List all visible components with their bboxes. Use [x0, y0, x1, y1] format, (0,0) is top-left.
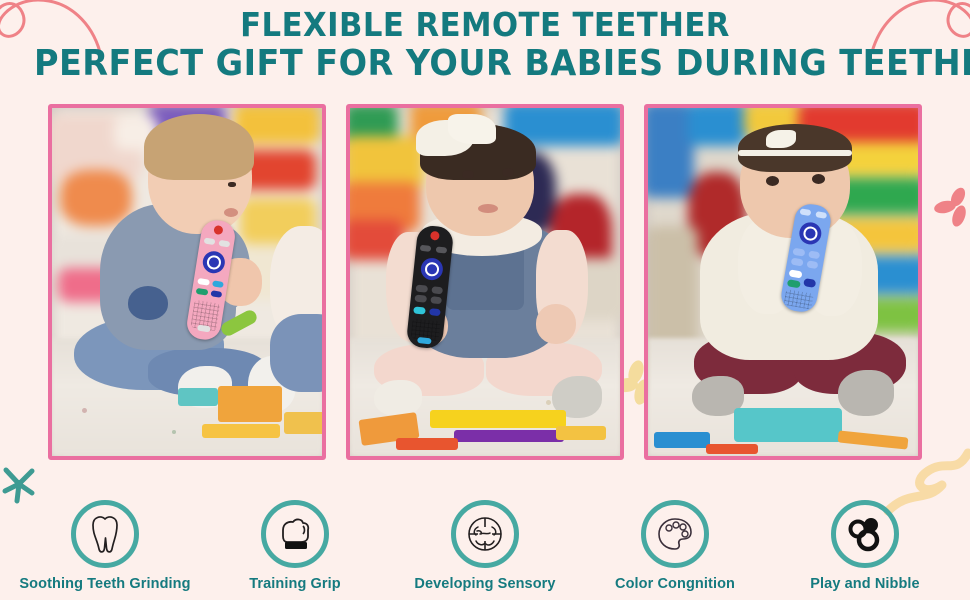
fist-grip-icon — [274, 514, 316, 554]
feature-row: Soothing Teeth Grinding Training Grip — [0, 500, 970, 592]
brain-icon — [464, 513, 506, 555]
photo-gallery — [0, 104, 970, 460]
feature-circle-5 — [831, 500, 899, 568]
feature-label-1: Soothing Teeth Grinding — [10, 576, 200, 592]
feature-item-soothing-teeth-grinding[interactable]: Soothing Teeth Grinding — [10, 500, 200, 592]
tooth-icon — [85, 513, 125, 555]
feature-circle-2 — [261, 500, 329, 568]
feature-label-4: Color Congnition — [580, 576, 770, 592]
feature-circle-1 — [71, 500, 139, 568]
feature-item-training-grip[interactable]: Training Grip — [200, 500, 390, 592]
headline-line-2: PERFECT GIFT FOR YOUR BABIES DURING TEET… — [34, 45, 936, 83]
feature-item-developing-sensory[interactable]: Developing Sensory — [390, 500, 580, 592]
photo-2-scene — [350, 108, 620, 456]
photo-card-3[interactable] — [644, 104, 922, 460]
photo-3-scene — [648, 108, 918, 456]
poster-canvas: FLEXIBLE REMOTE TEETHER PERFECT GIFT FOR… — [0, 0, 970, 600]
feature-label-3: Developing Sensory — [390, 576, 580, 592]
feature-circle-4 — [641, 500, 709, 568]
feature-circle-3 — [451, 500, 519, 568]
photo-card-2[interactable] — [346, 104, 624, 460]
feature-item-color-cognition[interactable]: Color Congnition — [580, 500, 770, 592]
photo-1-scene — [52, 108, 322, 456]
headline-block: FLEXIBLE REMOTE TEETHER PERFECT GIFT FOR… — [0, 8, 970, 83]
bubbles-icon — [844, 514, 886, 554]
photo-card-1[interactable] — [48, 104, 326, 460]
feature-label-2: Training Grip — [200, 576, 390, 592]
palette-icon — [654, 514, 696, 554]
feature-label-5: Play and Nibble — [770, 576, 960, 592]
headline-line-1: FLEXIBLE REMOTE TEETHER — [34, 8, 936, 43]
feature-item-play-and-nibble[interactable]: Play and Nibble — [770, 500, 960, 592]
